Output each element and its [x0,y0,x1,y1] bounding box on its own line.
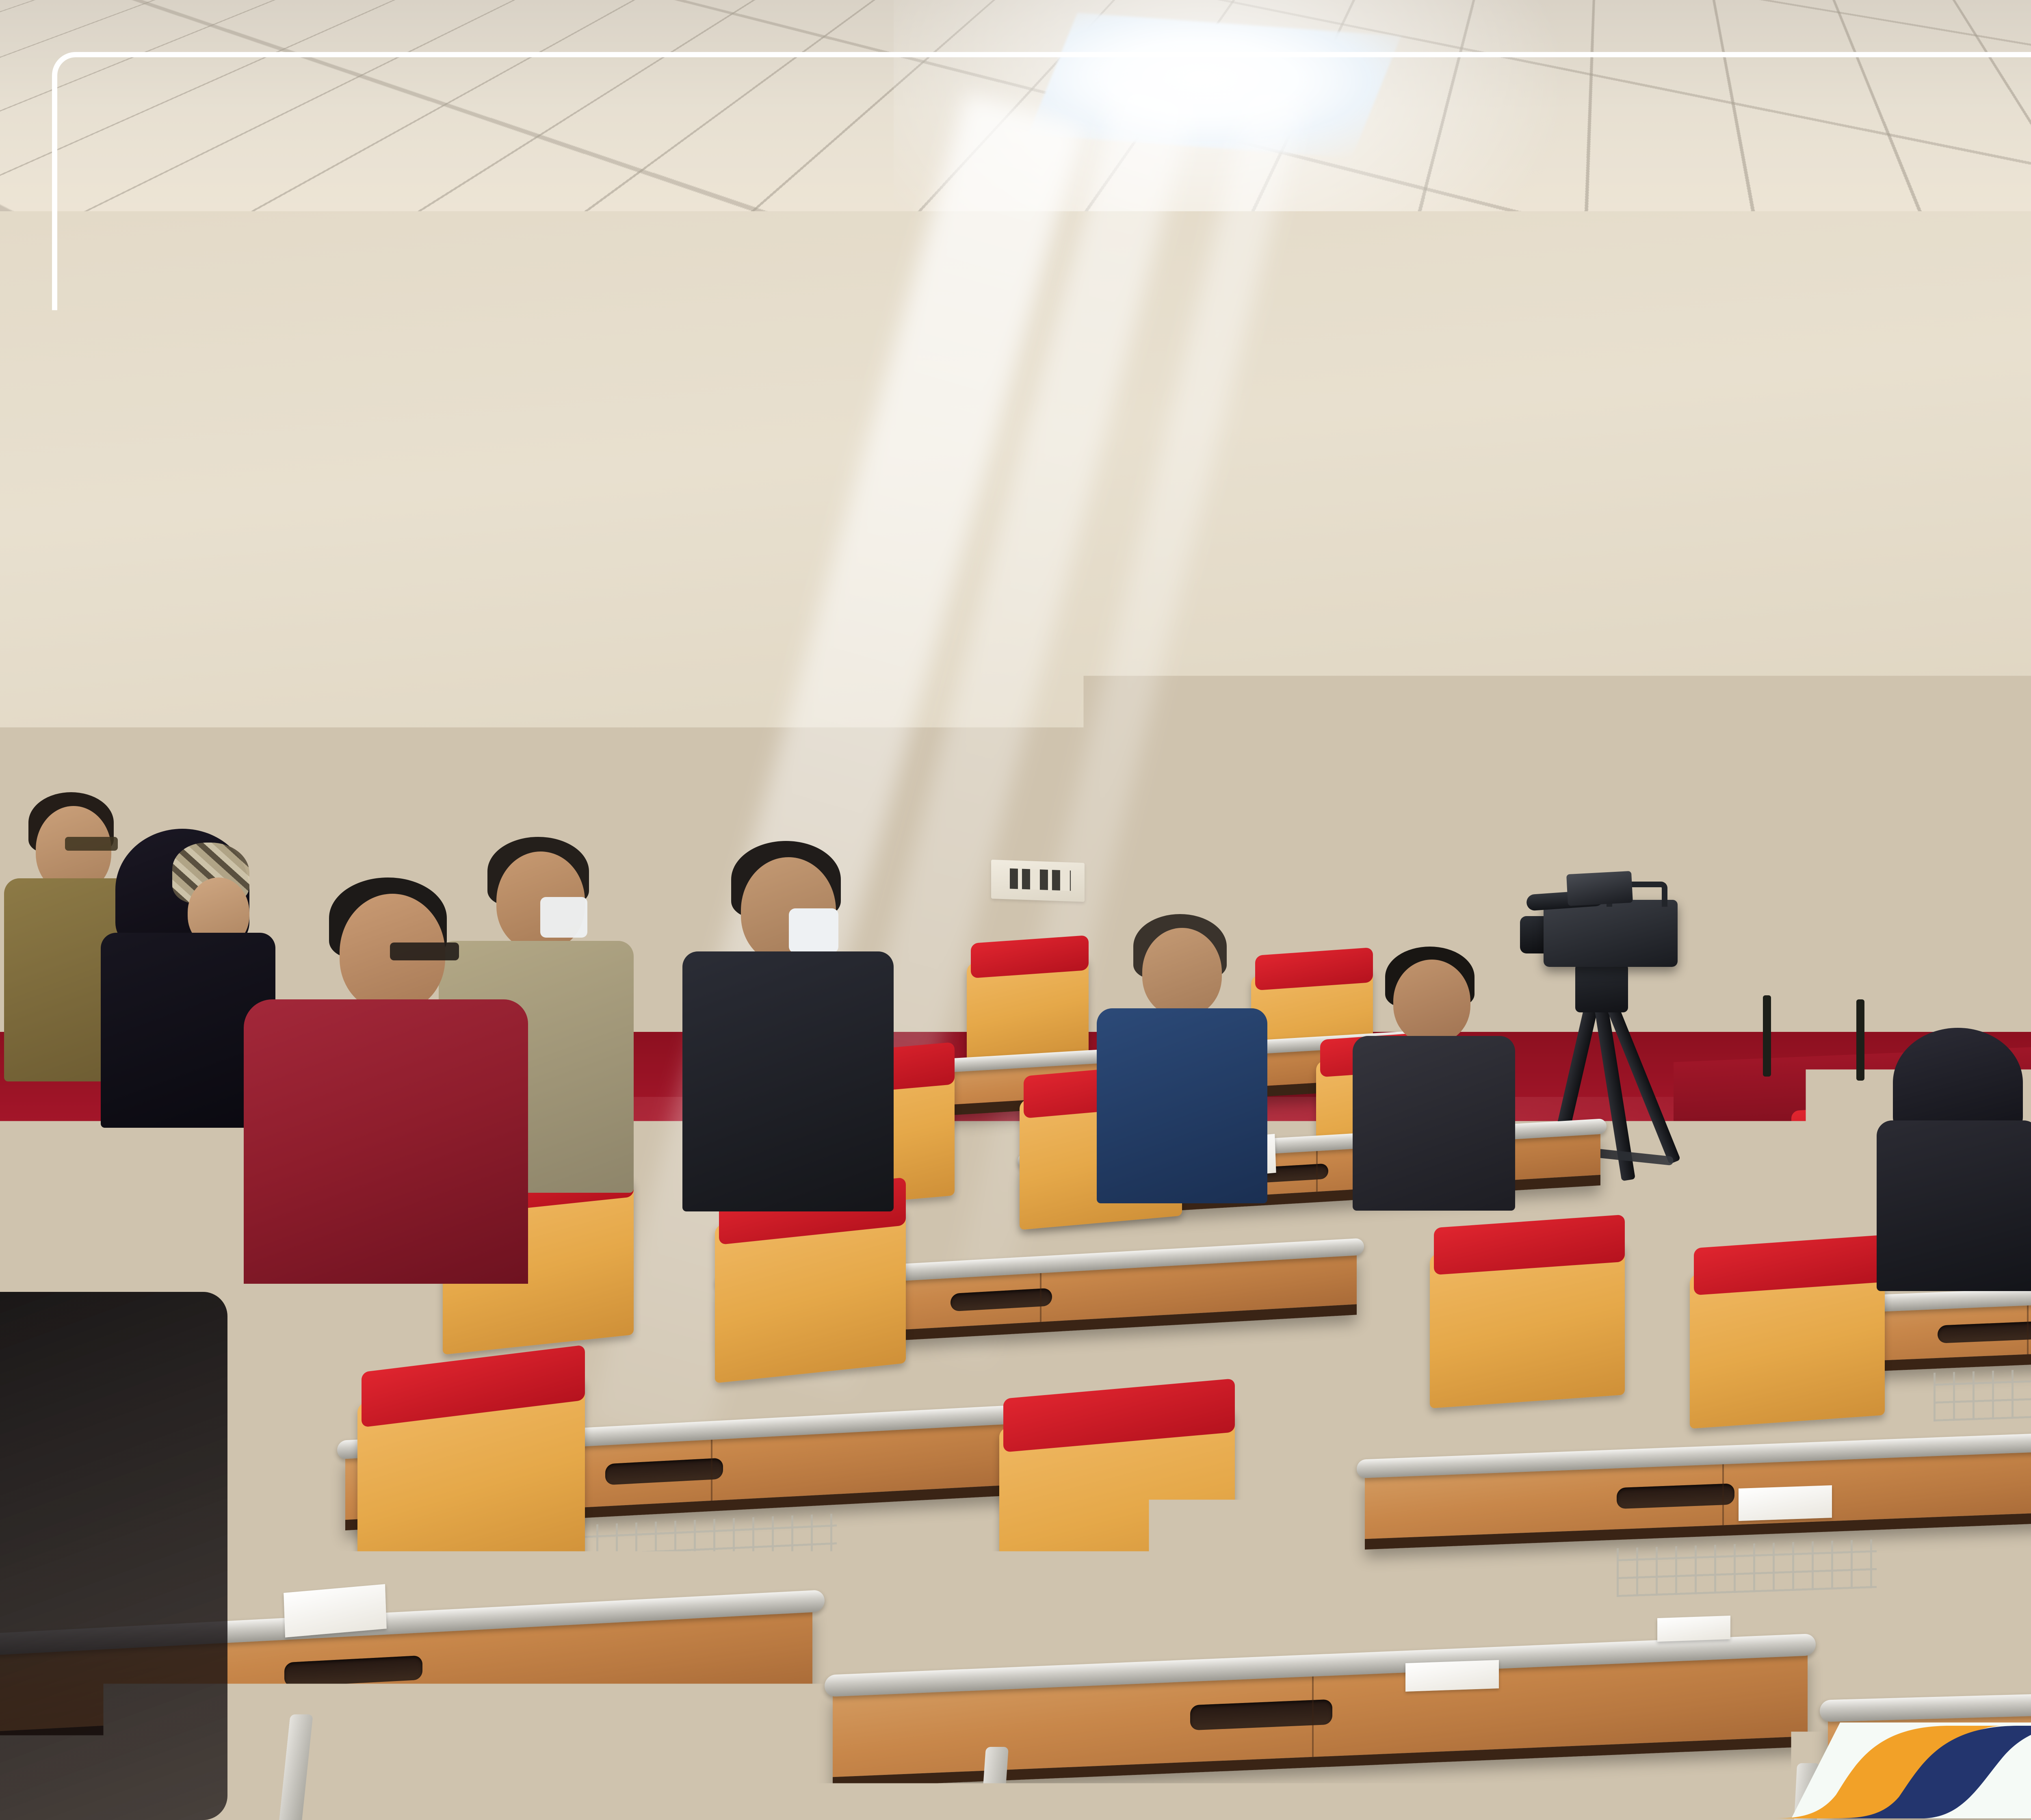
green-chair-leg-1 [1763,995,1771,1077]
wall-socket-panel[interactable] [991,860,1085,902]
handout-paper-d[interactable] [1739,1485,1832,1521]
tripod-head[interactable] [1575,964,1628,1012]
attendee-glasses-icon [390,942,459,960]
foreground-shadow-left [0,1292,227,1820]
attendee-near-door-left [1097,914,1267,1198]
video-camera-body[interactable] [1544,900,1678,967]
ceiling-light-panel [1028,13,1401,158]
desk-slot-c-right [1938,1321,2031,1343]
face-mask [540,897,587,938]
door-sun-glint-1 [1263,766,1324,884]
desk-basket-c [1934,1365,2031,1421]
door-handle-left[interactable] [1172,827,1179,862]
handout-paper-e1[interactable] [284,1584,387,1638]
camera-viewfinder[interactable] [1566,871,1633,906]
door-handle-right[interactable] [1460,819,1466,854]
lecture-hall-room [0,0,2031,1820]
attendee-back-capped [1860,1028,2031,1280]
green-visitor-chair-back[interactable] [1759,888,1869,981]
transom-louvre-lines [1305,580,1349,581]
bottom-banner: مركز التعليم المستمر [1751,1715,2031,1820]
attendee-near-door-right [1353,947,1515,1207]
face-mask [789,908,838,953]
desk-slot-d-left [605,1458,723,1485]
attendee-maroon-sweater [244,877,528,1284]
desk-slot-c-left [951,1288,1052,1311]
door-sun-glint-2 [1357,754,1405,880]
attendee-dark-jacket-mask [682,841,894,1207]
handout-paper-e3[interactable] [1657,1616,1730,1642]
door-transom-window [1153,543,1483,624]
desk-slot-d-right [1617,1483,1734,1509]
photo-canvas: مركز التعليم المستمر UNIVERSITY OF WARIT… [0,0,2031,1820]
ceiling-air-vent [763,0,1085,113]
handout-paper-e2[interactable] [1405,1660,1499,1692]
door-latch-upper[interactable] [1459,669,1466,704]
desk-slot-e-mid [1190,1699,1332,1731]
desk-slot-e-left [284,1655,422,1687]
desk-basket-d-right [1617,1539,1877,1597]
